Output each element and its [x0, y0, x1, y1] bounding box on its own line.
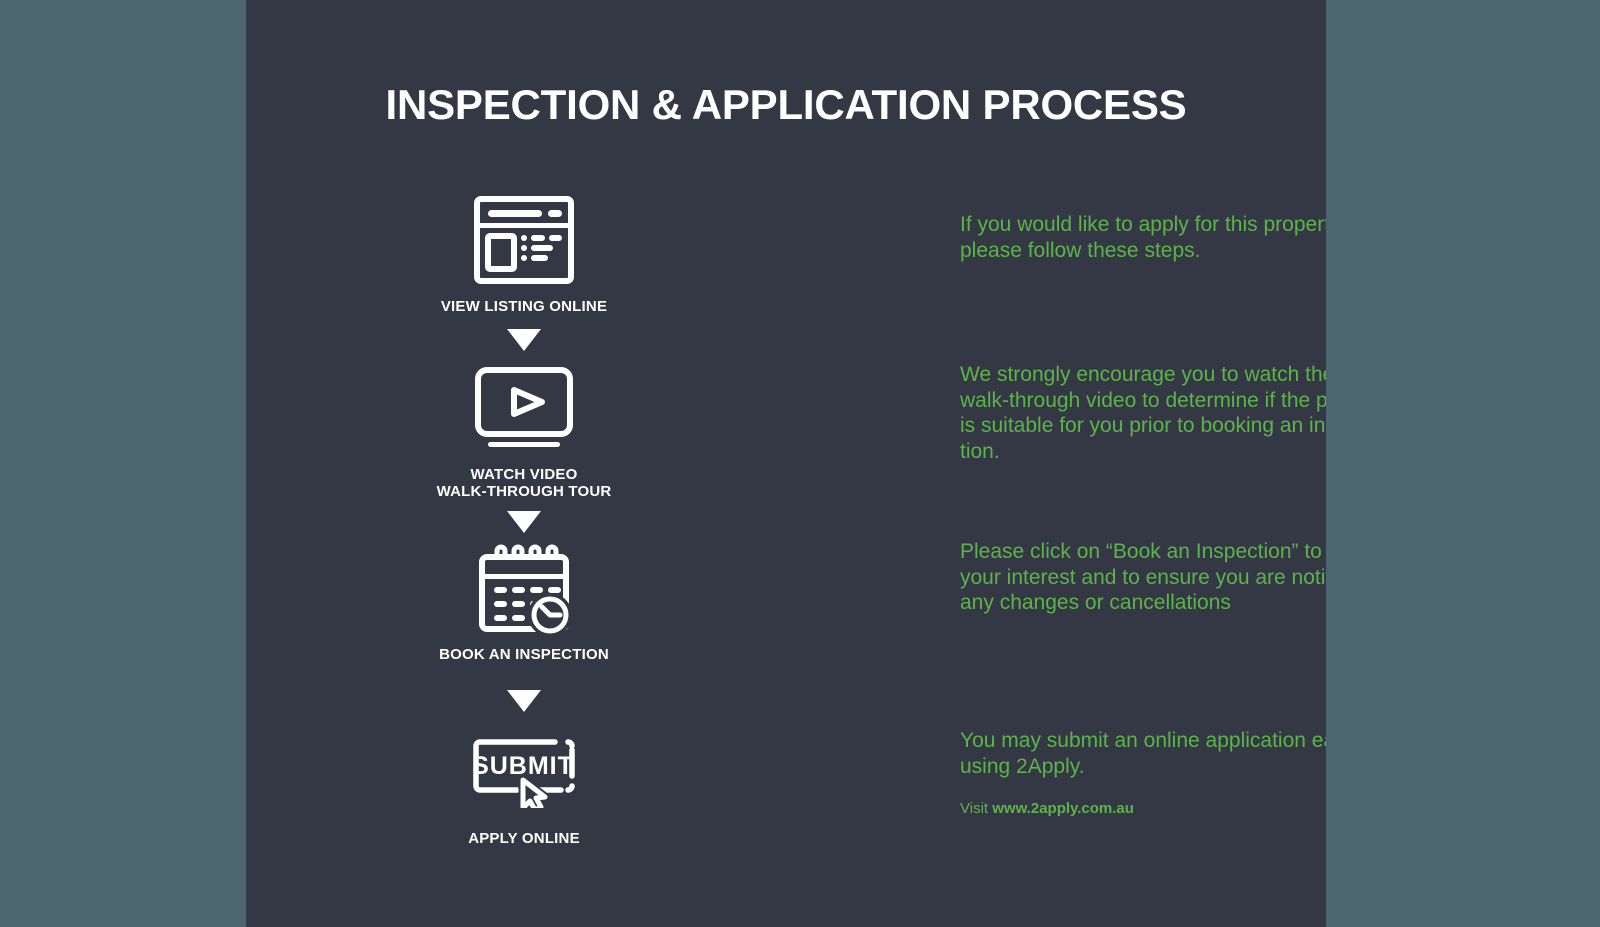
connector-arrow-1 — [507, 329, 541, 351]
step-2-label: WATCH VIDEO WALK-THROUGH TOUR — [434, 466, 614, 500]
step-4-description: You may submit an online application eas… — [960, 728, 1326, 779]
step-3-icon-column: BOOK AN INSPECTION — [434, 538, 614, 663]
visit-line: Visit www.2apply.com.au — [960, 800, 1326, 817]
step-2-description: We strongly encourage you to watch the o… — [960, 362, 1326, 464]
step-1-description: If you would like to apply for this prop… — [960, 212, 1326, 263]
video-play-monitor-icon — [434, 358, 614, 458]
page-title: INSPECTION & APPLICATION PROCESS — [246, 81, 1326, 129]
submit-button-cursor-icon: SUBMIT — [434, 722, 614, 822]
step-4-label: APPLY ONLINE — [434, 830, 614, 847]
step-1-icon-column: VIEW LISTING ONLINE — [434, 190, 614, 315]
calendar-clock-icon — [434, 538, 614, 638]
step-3-description: Please click on “Book an Inspection” to … — [960, 539, 1326, 616]
browser-listing-icon — [434, 190, 614, 290]
step-3-label: BOOK AN INSPECTION — [434, 646, 614, 663]
poster-stage: INSPECTION & APPLICATION PROCESS — [0, 0, 1600, 927]
connector-arrow-3 — [507, 690, 541, 712]
connector-arrow-2 — [507, 511, 541, 533]
visit-url[interactable]: www.2apply.com.au — [992, 800, 1134, 817]
visit-label: Visit — [960, 800, 992, 817]
process-card: INSPECTION & APPLICATION PROCESS — [246, 0, 1326, 927]
step-1-label: VIEW LISTING ONLINE — [434, 298, 614, 315]
step-2-icon-column: WATCH VIDEO WALK-THROUGH TOUR — [434, 358, 614, 500]
step-4-icon-column: SUBMIT APPLY ONLINE — [434, 722, 614, 847]
